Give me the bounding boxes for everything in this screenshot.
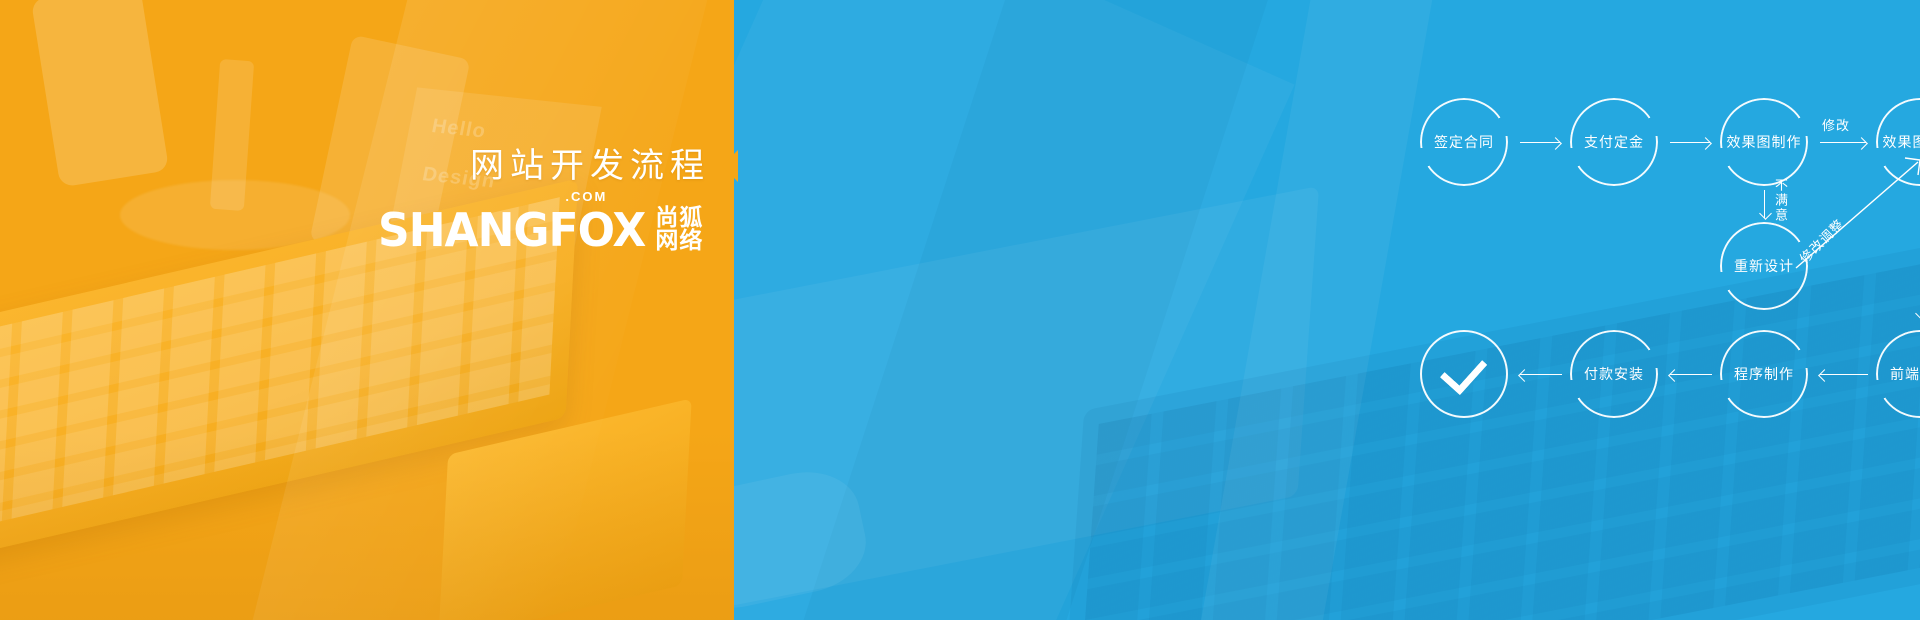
flow-node-label: 支付定金 [1584,132,1644,152]
flow-node-complete[interactable] [1420,330,1508,418]
flow-node-pay-and-install[interactable]: 付款安装 [1570,330,1658,418]
check-icon [1439,346,1486,395]
banner-root: Hello Design YANG FELIS 网站开发流程 .COM SHAN… [0,0,1920,620]
flow-node-frontend-slice[interactable]: 前端切图 [1876,330,1920,418]
flow-arrow-mockup-to-final [1820,142,1866,143]
process-flowchart: 签定合同 支付定金 效果图制作 效果图定稿 重新设计 前端切图 程序制作 [734,0,1920,620]
left-orange-panel: Hello Design YANG FELIS 网站开发流程 .COM SHAN… [0,0,734,620]
logo-cn-line1: 尚狐 [655,206,703,229]
flow-node-label: 前端切图 [1890,364,1920,384]
flow-arrow-mockup-to-redesign [1764,190,1765,218]
photo-phone [31,0,169,187]
panel-divider-notch [722,150,738,182]
flow-node-label: 付款安装 [1584,364,1644,384]
right-blue-panel: 签定合同 支付定金 效果图制作 效果图定稿 重新设计 前端切图 程序制作 [734,0,1920,620]
flow-node-program-build[interactable]: 程序制作 [1720,330,1808,418]
page-title: 网站开发流程 [470,138,710,187]
flow-arrow-slice-to-program [1820,374,1868,375]
flow-node-label: 效果图制作 [1727,132,1802,152]
flow-node-sign-contract[interactable]: 签定合同 [1420,98,1508,186]
flow-node-pay-deposit[interactable]: 支付定金 [1570,98,1658,186]
flow-arrow-program-to-install [1670,374,1712,375]
logo-cn-line2: 网络 [655,229,703,252]
flow-node-label: 重新设计 [1734,256,1794,276]
logo-wordmark: SHANGFOX [378,203,645,257]
flow-edge-label-revise: 修改 [1822,115,1850,134]
flow-node-label: 效果图定稿 [1883,132,1920,152]
flow-node-label: 程序制作 [1734,364,1794,384]
flow-arrow-install-to-complete [1520,374,1562,375]
flow-arrow-deposit-to-mockup [1670,142,1710,143]
flow-edge-label-not-satisfied: 不满意 [1771,178,1790,223]
flow-arrow-contract-to-deposit [1520,142,1560,143]
brand-logo: .COM SHANGFOX 尚狐 网络 [378,205,703,256]
logo-chinese-name: 尚狐 网络 [655,206,703,256]
logo-domain-suffix: .COM [565,189,607,204]
flow-node-label: 签定合同 [1434,132,1494,152]
